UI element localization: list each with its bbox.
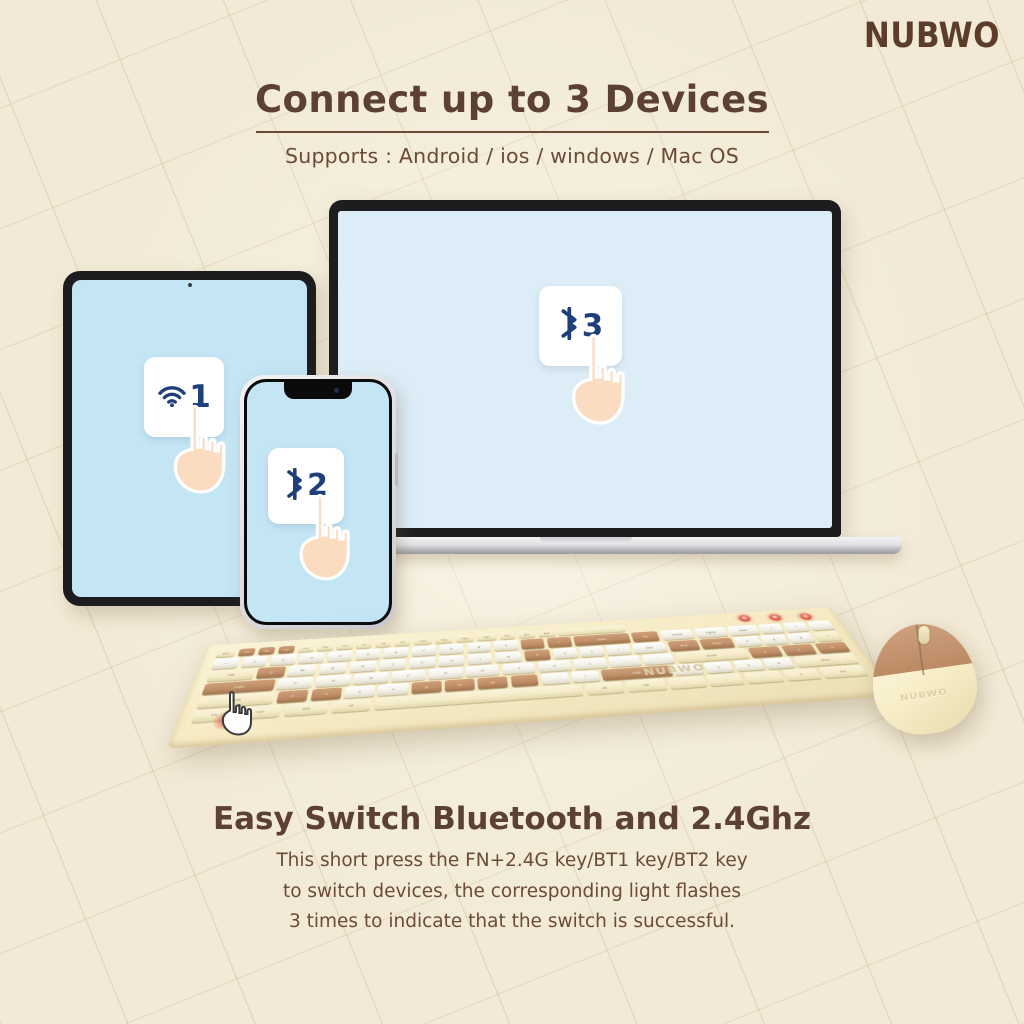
footer-title: Easy Switch Bluetooth and 2.4Ghz	[0, 801, 1024, 837]
key-y[interactable]: Y	[409, 657, 435, 669]
key-3[interactable]: 3	[298, 652, 325, 664]
key-j[interactable]: J	[502, 662, 536, 674]
wireless-mouse[interactable]: NUBWO	[872, 624, 976, 734]
key-m[interactable]: M	[477, 676, 508, 689]
key-w[interactable]: W	[287, 664, 317, 676]
key-sym[interactable]: \	[606, 644, 632, 655]
key-sym[interactable]: →	[743, 670, 784, 683]
key-2[interactable]: 2	[269, 654, 297, 666]
footer-block: Easy Switch Bluetooth and 2.4Ghz This sh…	[0, 801, 1024, 938]
key-e[interactable]: E	[319, 662, 347, 674]
footer-line-1: This short press the FN+2.4G key/BT1 key…	[0, 846, 1024, 877]
key-c[interactable]: C	[344, 685, 375, 698]
key-k[interactable]: K	[538, 660, 573, 672]
key-end[interactable]: End	[667, 640, 700, 651]
key-pgup[interactable]: PgUp	[694, 627, 728, 638]
key-blank[interactable]	[374, 684, 583, 710]
key-sym[interactable]: ↓	[706, 673, 745, 686]
key-sym[interactable]: ↑	[672, 663, 703, 675]
key-sym[interactable]: ,	[510, 674, 539, 687]
laptop-lid-notch	[540, 537, 632, 544]
key-b[interactable]: B	[412, 681, 442, 694]
key-scr[interactable]: Scr	[518, 631, 536, 639]
key-alt[interactable]: Alt	[330, 698, 371, 712]
key-0[interactable]: 0	[494, 640, 519, 651]
key-sym[interactable]: -	[807, 620, 835, 630]
key-d[interactable]: D	[353, 672, 388, 685]
key-tab[interactable]: Tab	[206, 668, 255, 682]
keyboard-body: EscF1F2F3F4F5F6F7F8F9F10F11F12DelPrtScrB…	[167, 607, 897, 749]
key-sym[interactable]: /	[758, 623, 785, 633]
key-5[interactable]: 5	[355, 649, 381, 660]
key-8[interactable]: 8	[760, 634, 789, 645]
mouse-left-button[interactable]	[865, 625, 923, 678]
key-n[interactable]: N	[445, 678, 475, 691]
key-prt[interactable]: Prt	[499, 632, 516, 640]
key-sym[interactable]: +	[813, 631, 843, 642]
key-l[interactable]: L	[573, 657, 607, 669]
key-z[interactable]: Z	[276, 690, 308, 703]
connection-badge-3: 3	[539, 286, 622, 366]
key-home[interactable]: Home	[660, 629, 695, 640]
key-sym[interactable]: ←	[667, 676, 708, 689]
key-x[interactable]: X	[310, 687, 342, 700]
title-divider	[256, 131, 769, 133]
key-a[interactable]: A	[277, 677, 314, 690]
key-6[interactable]: 6	[383, 647, 408, 658]
pointing-hand-icon	[294, 492, 366, 587]
key-del[interactable]: Del	[632, 642, 668, 654]
key-sym[interactable]: [	[552, 648, 578, 659]
connection-badge-1: 1	[144, 357, 224, 437]
key-brk[interactable]: Brk	[538, 629, 556, 637]
key-num[interactable]: Num	[727, 625, 760, 636]
key-s[interactable]: S	[315, 674, 351, 687]
key-del[interactable]: Del	[818, 665, 868, 678]
key-7[interactable]: 7	[411, 645, 435, 656]
key-q[interactable]: Q	[256, 666, 286, 678]
key-2[interactable]: 2	[733, 659, 765, 671]
key-sym[interactable]: ;	[608, 655, 642, 667]
key-h[interactable]: H	[466, 664, 500, 677]
key-f6[interactable]: F6	[336, 642, 353, 650]
key-esc[interactable]: Esc	[216, 649, 237, 657]
key-1[interactable]: 1	[240, 656, 268, 668]
footer-line-2: to switch devices, the corresponding lig…	[0, 877, 1024, 908]
mouse-scroll-wheel[interactable]	[919, 626, 930, 644]
wireless-keyboard[interactable]: EscF1F2F3F4F5F6F7F8F9F10F11F12DelPrtScrB…	[200, 592, 875, 747]
footer-line-3: 3 times to indicate that the switch is s…	[0, 907, 1024, 938]
key-4[interactable]: 4	[327, 650, 353, 662]
key-f9[interactable]: F9	[395, 638, 411, 646]
key-pgdn[interactable]: PgDn	[699, 638, 735, 650]
key-4[interactable]: 4	[747, 646, 783, 658]
key-grid: EscF1F2F3F4F5F6F7F8F9F10F11F12DelPrtScrB…	[185, 613, 877, 739]
nubwo-brand-logo: NUBWO	[864, 16, 1000, 56]
key-8[interactable]: 8	[439, 643, 463, 654]
pointing-hand-icon	[566, 332, 642, 431]
key-0[interactable]: 0	[782, 668, 822, 681]
headline-block: Connect up to 3 Devices Supports : Andro…	[0, 78, 1024, 168]
key-5[interactable]: 5	[781, 644, 817, 656]
key-u[interactable]: U	[439, 655, 465, 667]
key-r[interactable]: R	[349, 660, 377, 672]
key-sym[interactable]: =	[546, 637, 572, 648]
key-f7[interactable]: F7	[356, 641, 373, 649]
key-ins[interactable]: Ins	[631, 631, 660, 642]
key-shift[interactable]: Shift	[601, 665, 673, 680]
key-f8[interactable]: F8	[375, 640, 391, 648]
key-9[interactable]: 9	[786, 632, 815, 643]
supported-os-label: Supports : Android / ios / windows / Mac…	[0, 144, 1024, 168]
key-sym[interactable]: .	[541, 672, 570, 685]
key-f3[interactable]: F3	[277, 646, 295, 654]
key-f1[interactable]: F1	[238, 648, 256, 656]
hand-cursor-icon	[218, 690, 260, 736]
key-g[interactable]: G	[429, 667, 463, 680]
phone-side-button[interactable]	[395, 453, 398, 486]
camera-icon	[188, 283, 192, 287]
key-row: FNCtrlWinAltAltCtrl←↓→0Del	[191, 665, 868, 723]
key-7[interactable]: 7	[733, 636, 762, 647]
key-sym[interactable]: ]	[579, 646, 605, 657]
key-v[interactable]: V	[378, 683, 408, 696]
key-sym[interactable]: /	[571, 670, 600, 682]
key-f12[interactable]: F12	[456, 634, 474, 642]
key-9[interactable]: 9	[467, 642, 492, 653]
key-p[interactable]: P	[524, 649, 551, 661]
key-f5[interactable]: F5	[317, 643, 334, 651]
key-sym[interactable]: ~	[211, 658, 240, 670]
key-3[interactable]: 3	[763, 657, 796, 669]
key-f[interactable]: F	[391, 669, 425, 682]
key-o[interactable]: O	[495, 651, 522, 663]
key-alt[interactable]: Alt	[584, 681, 624, 695]
key-6[interactable]: 6	[814, 642, 851, 654]
page-title: Connect up to 3 Devices	[0, 78, 1024, 121]
pointing-hand-icon	[168, 403, 242, 500]
connection-badge-2: 2	[268, 448, 344, 524]
key-sym[interactable]: -	[521, 638, 545, 649]
key-t[interactable]: T	[379, 659, 405, 671]
key-f11[interactable]: F11	[435, 636, 453, 644]
key-sym[interactable]: '	[642, 653, 676, 665]
key-f4[interactable]: F4	[297, 644, 315, 652]
key-sym[interactable]: *	[782, 622, 809, 632]
key-f10[interactable]: F10	[414, 637, 432, 645]
camera-icon	[334, 388, 339, 393]
key-del[interactable]: Del	[477, 633, 496, 641]
key-ctrl[interactable]: Ctrl	[625, 678, 667, 692]
phone-notch	[284, 382, 352, 399]
key-win[interactable]: Win	[284, 701, 329, 716]
key-i[interactable]: I	[468, 653, 493, 665]
key-f2[interactable]: F2	[258, 647, 276, 655]
